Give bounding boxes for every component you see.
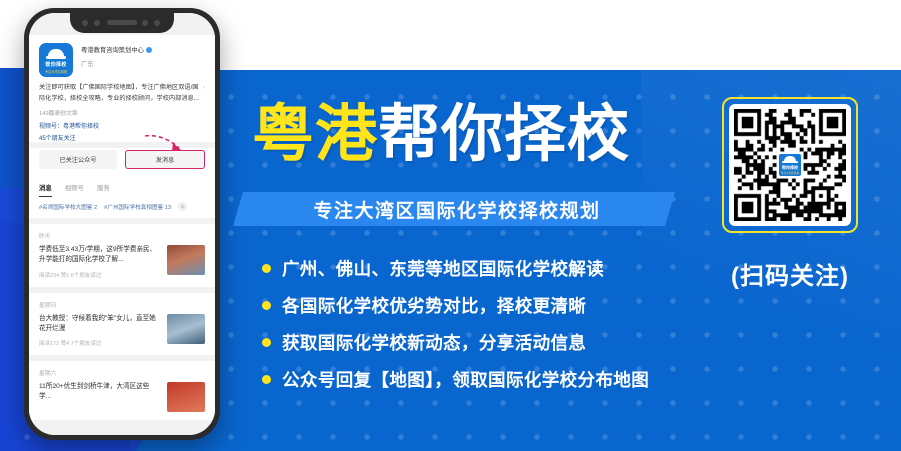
- list-item: 获取国际化学校新动态，分享活动信息: [262, 324, 649, 361]
- graduation-cap-icon: [48, 49, 64, 58]
- card-title: 学费低至3.43万/学期，这9所学费亲民、升学能打的国际化学校了解...: [39, 245, 160, 265]
- account-meta: 粤港教育咨询策划中心 广东: [81, 43, 205, 77]
- qr-code-surface: 帮你择校 专注大湾区择校: [729, 104, 851, 226]
- card-text: 11所20+优生到剑桥牛津，大湾区这些学...: [39, 382, 160, 412]
- headline-rest: 帮你择校: [378, 100, 630, 169]
- content-tabs: 消息 视频号 服务: [29, 179, 215, 197]
- benefit-list: 广州、佛山、东莞等地区国际化学校解读 各国际化学校优劣势对比，择校更清晰 获取国…: [262, 250, 649, 398]
- poster-canvas: 帮你择校 专注大湾区择校 粤港教育咨询策划中心 广东 ›: [0, 0, 901, 451]
- card-thumbnail: [167, 314, 205, 344]
- bullet-dot-icon: [262, 375, 271, 384]
- bullet-dot-icon: [262, 301, 271, 310]
- poster-subtitle: 专注大湾区国际化学校择校规划: [252, 192, 662, 226]
- poster-headline: 粤港帮你择校: [252, 104, 630, 166]
- graduation-cap-icon: [784, 156, 796, 163]
- tab-video-account[interactable]: 视频号: [65, 183, 84, 197]
- pink-pointer-arrow-icon: [143, 132, 187, 154]
- card-body: 台大教授：守候着我的"笨"女儿，直至她花开烂漫 阅读172 赞4 7个朋友读过: [39, 314, 205, 347]
- bullet-text: 公众号回复【地图】，领取国际化学校分布地图: [282, 367, 649, 392]
- original-article-count: 149篇原创文章: [39, 108, 205, 117]
- card-title: 11所20+优生到剑桥牛津，大湾区这些学...: [39, 382, 160, 402]
- avatar-logo-line1: 帮你择校: [45, 61, 66, 68]
- bullet-text: 广州、佛山、东莞等地区国际化学校解读: [282, 256, 604, 281]
- card-body: 11所20+优生到剑桥牛津，大湾区这些学...: [39, 382, 205, 412]
- list-item: 公众号回复【地图】，领取国际化学校分布地图: [262, 361, 649, 398]
- card-body: 学费低至3.43万/学期，这9所学费亲民、升学能打的国际化学校了解... 阅读2…: [39, 245, 205, 278]
- card-date: 星期日: [39, 300, 205, 309]
- tab-messages[interactable]: 消息: [39, 183, 52, 197]
- bullet-dot-icon: [262, 264, 271, 273]
- topic-chip-row: #名师国际学校大图鉴 2 #广州国际学校真相图鉴 13 ∨: [29, 197, 215, 218]
- bullet-text: 获取国际化学校新动态，分享活动信息: [282, 330, 586, 355]
- card-date: 星期六: [39, 368, 205, 377]
- bullet-text: 各国际化学校优劣势对比，择校更清晰: [282, 293, 586, 318]
- avatar-logo-line2: 专注大湾区择校: [45, 69, 67, 74]
- video-account-link[interactable]: 视频号：粤港帮你择校: [39, 121, 205, 130]
- bullet-dot-icon: [262, 338, 271, 347]
- headline-highlight: 粤港: [252, 100, 378, 169]
- chevron-down-icon[interactable]: ∨: [178, 202, 187, 211]
- card-stats: 阅读172 赞4 7个朋友读过: [39, 339, 160, 347]
- account-action-buttons: 已关注公众号 发消息: [29, 148, 215, 179]
- description-text: 关注即可获取【广佛国际学校地图】，专注广佛地区双语/国际化学校，择校全攻略，专业…: [39, 84, 199, 102]
- topic-chip[interactable]: #名师国际学校大图鉴 2: [39, 203, 97, 211]
- card-date: 昨天: [39, 231, 205, 240]
- phone-screen-frame: 帮你择校 专注大湾区择校 粤港教育咨询策划中心 广东 ›: [29, 13, 215, 435]
- qr-logo-line2: 专注大湾区择校: [781, 171, 799, 175]
- account-avatar: 帮你择校 专注大湾区择校: [39, 43, 73, 77]
- account-name: 粤港教育咨询策划中心: [81, 45, 144, 54]
- follow-button[interactable]: 已关注公众号: [39, 150, 117, 169]
- account-header: 帮你择校 专注大湾区择校 粤港教育咨询策划中心 广东: [29, 35, 215, 83]
- description-expand-chevron[interactable]: ›: [203, 83, 205, 94]
- card-thumbnail: [167, 382, 205, 412]
- card-text: 学费低至3.43万/学期，这9所学费亲民、升学能打的国际化学校了解... 阅读2…: [39, 245, 160, 278]
- card-stats: 阅读234 赞1 6个朋友读过: [39, 271, 160, 279]
- card-title: 台大教授：守候着我的"笨"女儿，直至她花开烂漫: [39, 314, 160, 334]
- article-card[interactable]: 昨天 学费低至3.43万/学期，这9所学费亲民、升学能打的国际化学校了解... …: [29, 224, 215, 286]
- verified-badge-icon: [146, 47, 152, 53]
- account-region: 广东: [81, 59, 205, 68]
- card-thumbnail: [167, 245, 205, 275]
- account-description-block: › 关注即可获取【广佛国际学校地图】，专注广佛地区双语/国际化学校，择校全攻略，…: [29, 83, 215, 142]
- card-text: 台大教授：守候着我的"笨"女儿，直至她花开烂漫 阅读172 赞4 7个朋友读过: [39, 314, 160, 347]
- qr-code-frame: 帮你择校 专注大湾区择校: [722, 97, 858, 233]
- account-name-row: 粤港教育咨询策划中心: [81, 45, 205, 54]
- qr-center-logo: 帮你择校 专注大湾区择校: [777, 152, 803, 178]
- list-item: 各国际化学校优劣势对比，择校更清晰: [262, 287, 649, 324]
- article-card[interactable]: 星期日 台大教授：守候着我的"笨"女儿，直至她花开烂漫 阅读172 赞4 7个朋…: [29, 293, 215, 355]
- topic-chip[interactable]: #广州国际学校真相图鉴 13: [104, 203, 171, 211]
- account-description: › 关注即可获取【广佛国际学校地图】，专注广佛地区双语/国际化学校，择校全攻略，…: [39, 83, 205, 104]
- article-card[interactable]: 星期六 11所20+优生到剑桥牛津，大湾区这些学...: [29, 361, 215, 420]
- qr-caption: (扫码关注): [712, 256, 868, 291]
- phone-notch: [70, 13, 174, 33]
- tab-services[interactable]: 服务: [97, 183, 110, 197]
- list-item: 广州、佛山、东莞等地区国际化学校解读: [262, 250, 649, 287]
- wechat-official-account-page: 帮你择校 专注大湾区择校 粤港教育咨询策划中心 广东 ›: [29, 13, 215, 435]
- phone-mockup: 帮你择校 专注大湾区择校 粤港教育咨询策划中心 广东 ›: [24, 8, 220, 440]
